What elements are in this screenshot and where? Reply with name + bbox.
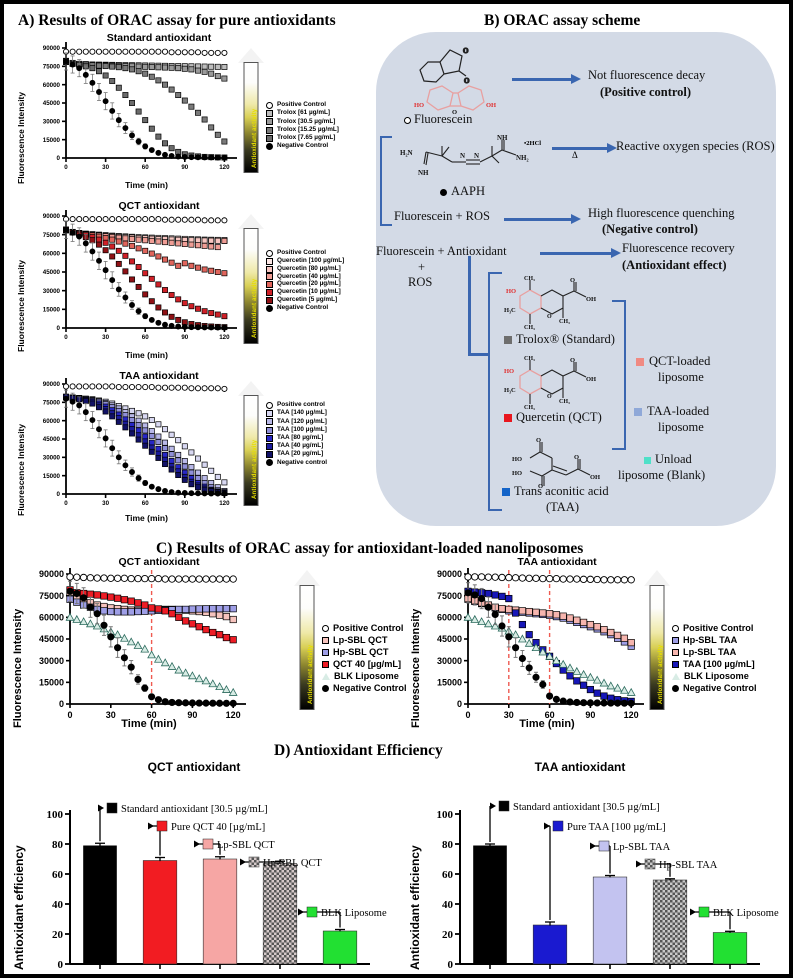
legend-label: Lp-SBL TAA xyxy=(683,648,736,657)
svg-text:30000: 30000 xyxy=(43,119,61,126)
svg-text:0: 0 xyxy=(59,699,64,709)
legend-item: TAA [140 µg/mL] xyxy=(266,410,327,417)
legend-a-standard: Positive ControlTrolox [61 µg/mL]Trolox … xyxy=(266,102,339,151)
aaph-bracket xyxy=(380,136,392,226)
svg-text:O: O xyxy=(536,437,541,444)
legend-label: Negative Control xyxy=(277,143,328,149)
panel-b-content: O O HO OH O Fluorescein Not fluorescence… xyxy=(376,32,776,526)
svg-text:45000: 45000 xyxy=(437,634,462,644)
legend-swatch-icon xyxy=(266,297,273,304)
legend-label: TAA [40 µg/mL] xyxy=(277,443,323,449)
legend-swatch-icon xyxy=(672,637,679,644)
svg-text:60000: 60000 xyxy=(437,613,462,623)
quercetin-structure: HO H₃C CH₃ CH₃ O CH₃ O OH xyxy=(504,354,614,412)
svg-text:0: 0 xyxy=(57,155,61,162)
legend-item: Trolox [30.5 µg/mL] xyxy=(266,118,339,125)
legend-item: Negative Control xyxy=(672,684,757,693)
svg-text:O: O xyxy=(570,277,575,284)
svg-text:HO: HO xyxy=(512,456,522,463)
fluorescein-ros-label: Fluorescein + ROS xyxy=(394,209,490,224)
figure-root: A) Results of ORAC assay for pure antiox… xyxy=(0,0,793,978)
svg-text:30000: 30000 xyxy=(437,656,462,666)
svg-text:120: 120 xyxy=(219,164,230,171)
aaph-label: AAPH xyxy=(451,184,485,198)
legend-item: Negative Control xyxy=(266,143,339,150)
svg-text:O: O xyxy=(547,394,552,400)
svg-text:120: 120 xyxy=(624,710,639,720)
arrow-to-negative-control xyxy=(504,218,572,221)
qct-loaded-row: QCT-loaded xyxy=(636,354,710,369)
section-a-title: A) Results of ORAC assay for pure antiox… xyxy=(18,12,336,30)
antioxidant-activity-arrow-a1: Antioxidant activity xyxy=(238,48,264,173)
svg-text:90: 90 xyxy=(585,710,595,720)
legend-item: TAA [100 µg/mL] xyxy=(266,427,327,434)
svg-text:HO: HO xyxy=(414,102,424,109)
bar-annotation-label: Hp-SBL TAA xyxy=(659,860,718,871)
svg-text:80: 80 xyxy=(442,839,454,851)
svg-text:60: 60 xyxy=(142,164,149,171)
molecules-bracket xyxy=(488,272,502,511)
legend-swatch-icon xyxy=(266,305,273,312)
legend-label: Quercetin [5 µg/mL] xyxy=(277,297,337,303)
trolox-label-row: Trolox® (Standard) xyxy=(504,332,615,347)
legend-swatch-icon xyxy=(266,459,273,466)
legend-item: TAA [120 µg/mL] xyxy=(266,418,327,425)
svg-text:120: 120 xyxy=(226,710,241,720)
svg-text:30: 30 xyxy=(504,710,514,720)
legend-item: Lp-SBL TAA xyxy=(672,648,757,657)
legend-a-taa: Positive controlTAA [140 µg/mL]TAA [120 … xyxy=(266,402,327,468)
fluorescein-antioxidant-plus: + xyxy=(418,260,425,275)
legend-item: TAA [100 µg/mL] xyxy=(672,660,757,669)
svg-text:90000: 90000 xyxy=(43,381,61,388)
legend-label: Positive control xyxy=(277,402,325,408)
legend-label: BLK Liposome xyxy=(334,672,399,681)
legend-item: BLK Liposome xyxy=(322,672,407,681)
legend-swatch-icon xyxy=(672,673,680,680)
legend-item: Negative Control xyxy=(322,684,407,693)
svg-text:20: 20 xyxy=(52,929,64,941)
fluorescein-structure: O O HO OH O xyxy=(414,40,524,112)
svg-text:0: 0 xyxy=(67,710,72,720)
legend-swatch-icon xyxy=(266,143,273,150)
svg-text:0: 0 xyxy=(58,959,64,971)
arrow-to-ros xyxy=(552,147,608,150)
legend-item: Trolox [61 µg/mL] xyxy=(266,110,339,117)
antioxidant-activity-arrow-a2: Antioxidant activity xyxy=(238,214,264,344)
svg-text:NH₂: NH₂ xyxy=(516,154,529,162)
svg-text:CH₃: CH₃ xyxy=(524,325,535,331)
arrow-label: Antioxidant activity xyxy=(308,645,314,704)
arrow-label: Antioxidant activity xyxy=(252,440,258,499)
legend-label: Quercetin [100 µg/mL] xyxy=(277,258,344,264)
legend-label: Positive Control xyxy=(683,624,753,633)
legend-item: Hp-SBL TAA xyxy=(672,636,757,645)
taa-label-row: Trans aconitic acid xyxy=(502,484,609,499)
legend-item: Positive Control xyxy=(266,102,339,109)
quercetin-label-row: Quercetin (QCT) xyxy=(504,410,602,425)
legend-item: TAA [20 µg/mL] xyxy=(266,451,327,458)
svg-text:OH: OH xyxy=(486,102,496,109)
fluorescein-label: Fluorescein xyxy=(414,112,472,126)
svg-text:60: 60 xyxy=(545,710,555,720)
legend-swatch-icon xyxy=(266,435,273,442)
legend-label: TAA [100 µg/mL] xyxy=(277,427,327,433)
legend-label: Hp-SBL TAA xyxy=(683,636,737,645)
legend-label: Trolox [61 µg/mL] xyxy=(277,110,330,116)
svg-text:30000: 30000 xyxy=(39,656,64,666)
fluorescein-antioxidant-label: Fluorescein + Antioxidant xyxy=(376,244,507,259)
svg-text:CH₃: CH₃ xyxy=(524,276,535,282)
output-positive-control: (Positive control) xyxy=(600,85,691,100)
legend-label: Lp-SBL QCT xyxy=(333,636,387,645)
arrow-label: Antioxidant activity xyxy=(252,109,258,168)
legend-label: Trolox [7.65 µg/mL] xyxy=(277,135,335,141)
legend-swatch-icon xyxy=(322,661,329,668)
legend-label: Quercetin [80 µg/mL] xyxy=(277,266,341,272)
svg-text:75000: 75000 xyxy=(437,591,462,601)
svg-text:15000: 15000 xyxy=(43,473,61,480)
svg-text:15000: 15000 xyxy=(43,307,61,314)
svg-text:30: 30 xyxy=(102,334,109,341)
svg-text:90000: 90000 xyxy=(43,213,61,220)
bar-annotation-label: BLK Liposome xyxy=(713,908,779,919)
taa-loaded-row: TAA-loaded xyxy=(634,404,709,419)
legend-label: Quercetin [10 µg/mL] xyxy=(277,289,341,295)
bar-annotation-label: Lp-SBL TAA xyxy=(613,842,671,853)
legend-label: QCT 40 [µg/mL] xyxy=(333,660,401,669)
legend-swatch-icon xyxy=(266,250,273,257)
aaph-marker-icon xyxy=(440,189,447,196)
svg-text:45000: 45000 xyxy=(43,100,61,107)
output-fluorescence-recovery: Fluorescence recovery xyxy=(622,241,735,256)
trolox-marker-icon xyxy=(504,336,512,344)
legend-label: Positive Control xyxy=(333,624,403,633)
legend-item: TAA [40 µg/mL] xyxy=(266,443,327,450)
qct-loaded-label: QCT-loaded xyxy=(649,354,710,368)
taa-label-line1: Trans aconitic acid xyxy=(514,484,609,498)
delta-label: Δ xyxy=(572,150,578,160)
legend-label: Hp-SBL QCT xyxy=(333,648,388,657)
svg-text:60: 60 xyxy=(52,869,64,881)
legend-swatch-icon xyxy=(322,685,329,692)
svg-text:15000: 15000 xyxy=(437,678,462,688)
output-antioxidant-effect: (Antioxidant effect) xyxy=(622,258,727,273)
legend-label: BLK Liposome xyxy=(684,672,749,681)
antioxidant-activity-arrow-a3: Antioxidant activity xyxy=(238,381,264,506)
bar-annotation-label: Lp-SBL QCT xyxy=(217,840,275,851)
legend-swatch-icon xyxy=(322,625,329,632)
svg-text:100: 100 xyxy=(47,809,64,821)
legend-swatch-icon xyxy=(266,402,273,409)
svg-text:O: O xyxy=(547,314,552,320)
svg-text:NH: NH xyxy=(497,134,508,142)
legend-label: Quercetin [40 µg/mL] xyxy=(277,274,341,280)
svg-text:H₃C: H₃C xyxy=(504,307,516,314)
svg-text:30: 30 xyxy=(106,710,116,720)
legend-label: Trolox [30.5 µg/mL] xyxy=(277,119,335,125)
legend-swatch-icon xyxy=(266,451,273,458)
taa-marker-icon xyxy=(502,488,510,496)
fluorescein-marker-icon xyxy=(404,117,411,124)
legend-label: Positive Control xyxy=(277,102,326,108)
svg-text:45000: 45000 xyxy=(43,269,61,276)
hcl-label: •2HCl xyxy=(524,140,541,147)
legend-label: TAA [140 µg/mL] xyxy=(277,410,327,416)
antioxidant-activity-arrow-c1: Antioxidant activity xyxy=(294,570,320,710)
bar-annotation-label: Pure QCT 40 [µg/mL] xyxy=(171,822,265,833)
svg-text:60: 60 xyxy=(142,500,149,507)
svg-text:60000: 60000 xyxy=(43,82,61,89)
taa-label-line2: (TAA) xyxy=(546,500,579,515)
arrow-label: Antioxidant activity xyxy=(252,279,258,338)
svg-text:H₃C: H₃C xyxy=(504,387,516,394)
legend-label: Negative control xyxy=(277,460,327,466)
svg-text:0: 0 xyxy=(457,699,462,709)
output-ros: Reactive oxygen species (ROS) xyxy=(616,139,775,154)
arrow-to-antioxidant-effect xyxy=(540,252,612,255)
svg-text:60: 60 xyxy=(142,334,149,341)
svg-text:120: 120 xyxy=(219,500,230,507)
blank-liposome-label: Unload xyxy=(655,452,692,466)
legend-item: Positive control xyxy=(266,402,327,409)
svg-text:0: 0 xyxy=(57,491,61,498)
legend-swatch-icon xyxy=(266,266,273,273)
svg-text:O: O xyxy=(463,47,469,55)
legend-swatch-icon xyxy=(672,649,679,656)
legend-item: Quercetin [20 µg/mL] xyxy=(266,281,344,288)
svg-text:N: N xyxy=(474,152,479,160)
legend-a-qct: Positive ControlQuercetin [100 µg/mL]Que… xyxy=(266,250,344,312)
qct-loaded-marker-icon xyxy=(636,358,644,366)
chart-c-qct: QCT antioxidant Fluorescence Intensity T… xyxy=(4,556,294,736)
legend-label: Trolox [15.25 µg/mL] xyxy=(277,127,339,133)
svg-text:40: 40 xyxy=(52,899,64,911)
output-negative-control: (Negative control) xyxy=(602,222,698,237)
legend-swatch-icon xyxy=(266,443,273,450)
quercetin-marker-icon xyxy=(504,414,512,422)
svg-text:60: 60 xyxy=(147,710,157,720)
svg-text:90: 90 xyxy=(187,710,197,720)
svg-text:80: 80 xyxy=(52,839,64,851)
svg-text:HO: HO xyxy=(504,368,514,375)
svg-text:90000: 90000 xyxy=(437,569,462,579)
svg-text:30000: 30000 xyxy=(43,288,61,295)
legend-item: Lp-SBL QCT xyxy=(322,636,407,645)
svg-text:0: 0 xyxy=(64,164,68,171)
legend-item: Negative control xyxy=(266,459,327,466)
output-not-fluorescence-decay: Not fluorescence decay xyxy=(588,68,705,83)
qct-loaded-label2: liposome xyxy=(658,370,704,385)
svg-text:N: N xyxy=(460,152,465,160)
legend-item: Quercetin [40 µg/mL] xyxy=(266,273,344,280)
svg-text:75000: 75000 xyxy=(39,591,64,601)
taa-loaded-label2: liposome xyxy=(658,420,704,435)
svg-text:75000: 75000 xyxy=(43,232,61,239)
antioxidant-activity-arrow-c2: Antioxidant activity xyxy=(644,570,670,710)
svg-text:0: 0 xyxy=(448,959,454,971)
legend-swatch-icon xyxy=(266,127,273,134)
legend-swatch-icon xyxy=(266,281,273,288)
legend-swatch-icon xyxy=(672,661,679,668)
svg-text:0: 0 xyxy=(64,334,68,341)
section-d-title: D) Antioxidant Efficiency xyxy=(274,742,443,760)
legend-item: Hp-SBL QCT xyxy=(322,648,407,657)
legend-swatch-icon xyxy=(322,649,329,656)
svg-text:30000: 30000 xyxy=(43,455,61,462)
svg-text:60000: 60000 xyxy=(39,613,64,623)
svg-text:NH: NH xyxy=(418,169,429,177)
connector-horizontal xyxy=(468,353,490,356)
bar-annotation-label: BLK Liposome xyxy=(321,908,387,919)
fluorescein-antioxidant-ros: ROS xyxy=(408,275,432,290)
arrow-to-positive-control xyxy=(512,78,572,81)
svg-text:90000: 90000 xyxy=(39,569,64,579)
blank-liposome-label2: liposome (Blank) xyxy=(618,468,705,483)
svg-text:HO: HO xyxy=(512,470,522,477)
bar-annotation-label: Standard antioxidant [30.5 µg/mL] xyxy=(513,802,660,813)
svg-text:45000: 45000 xyxy=(43,436,61,443)
svg-text:75000: 75000 xyxy=(43,64,61,71)
legend-item: Negative Control xyxy=(266,305,344,312)
svg-text:CH₃: CH₃ xyxy=(559,319,570,325)
taa-loaded-label: TAA-loaded xyxy=(647,404,709,418)
trolox-structure: HO H₃C CH₃ CH₃ O CH₃ O OH xyxy=(504,274,614,332)
legend-label: TAA [20 µg/mL] xyxy=(277,451,323,457)
legend-swatch-icon xyxy=(266,102,273,109)
output-high-quenching: High fluorescence quenching xyxy=(588,206,734,221)
bar-annotation-label: Hp-SBL QCT xyxy=(263,858,322,869)
legend-swatch-icon xyxy=(266,258,273,265)
legend-swatch-icon xyxy=(266,273,273,280)
svg-text:45000: 45000 xyxy=(39,634,64,644)
connector-vertical xyxy=(468,256,471,356)
blank-liposome-marker-icon xyxy=(644,457,651,464)
legend-item: Trolox [7.65 µg/mL] xyxy=(266,135,339,142)
svg-text:O: O xyxy=(574,454,579,461)
legend-item: Quercetin [5 µg/mL] xyxy=(266,297,344,304)
legend-swatch-icon xyxy=(266,135,273,142)
svg-text:CH₃: CH₃ xyxy=(559,399,570,405)
legend-item: Quercetin [100 µg/mL] xyxy=(266,258,344,265)
svg-text:0: 0 xyxy=(465,710,470,720)
legend-item: Positive Control xyxy=(322,624,407,633)
svg-text:30: 30 xyxy=(102,500,109,507)
svg-text:60: 60 xyxy=(442,869,454,881)
svg-text:OH: OH xyxy=(590,474,600,481)
taa-structure: O HO HO O O OH xyxy=(510,432,620,488)
svg-text:90000: 90000 xyxy=(43,45,61,52)
section-b-title: B) ORAC assay scheme xyxy=(484,12,640,30)
svg-text:20: 20 xyxy=(442,929,454,941)
legend-label: Positive Control xyxy=(277,250,326,256)
legend-label: TAA [80 µg/mL] xyxy=(277,435,323,441)
legend-swatch-icon xyxy=(266,418,273,425)
svg-text:H₂N: H₂N xyxy=(400,149,413,157)
svg-text:60000: 60000 xyxy=(43,251,61,258)
legend-item: Positive Control xyxy=(266,250,344,257)
svg-text:0: 0 xyxy=(57,325,61,332)
svg-text:0: 0 xyxy=(64,500,68,507)
legend-item: TAA [80 µg/mL] xyxy=(266,435,327,442)
svg-text:40: 40 xyxy=(442,899,454,911)
arrow-label: Antioxidant activity xyxy=(658,645,664,704)
trolox-label: Trolox® (Standard) xyxy=(516,332,615,346)
legend-swatch-icon xyxy=(672,685,679,692)
legend-swatch-icon xyxy=(322,673,330,680)
legend-c-taa: Positive ControlHp-SBL TAALp-SBL TAATAA … xyxy=(672,624,757,696)
legend-swatch-icon xyxy=(266,410,273,417)
legend-item: QCT 40 [µg/mL] xyxy=(322,660,407,669)
legend-item: Trolox [15.25 µg/mL] xyxy=(266,127,339,134)
legend-label: TAA [120 µg/mL] xyxy=(277,419,327,425)
chart-d-qct: QCT antioxidant Antioxidant efficiency 1… xyxy=(4,760,400,978)
legend-item: Quercetin [10 µg/mL] xyxy=(266,289,344,296)
legend-label: Negative Control xyxy=(683,684,757,693)
svg-text:OH: OH xyxy=(586,376,596,383)
aaph-label-row: AAPH xyxy=(440,184,485,199)
legend-swatch-icon xyxy=(266,289,273,296)
svg-text:90: 90 xyxy=(181,334,188,341)
chart-d-taa: TAA antioxidant Antioxidant efficiency 1… xyxy=(400,760,790,978)
blank-liposome-row: Unload xyxy=(644,452,692,467)
legend-swatch-icon xyxy=(672,625,679,632)
svg-text:15000: 15000 xyxy=(43,137,61,144)
svg-text:HO: HO xyxy=(506,288,516,295)
svg-text:75000: 75000 xyxy=(43,400,61,407)
svg-text:15000: 15000 xyxy=(39,678,64,688)
bar-annotation-label: Standard antioxidant [30.5 µg/mL] xyxy=(121,804,268,815)
legend-label: TAA [100 µg/mL] xyxy=(683,660,755,669)
legend-swatch-icon xyxy=(266,427,273,434)
legend-swatch-icon xyxy=(266,118,273,125)
legend-item: Quercetin [80 µg/mL] xyxy=(266,266,344,273)
taa-loaded-marker-icon xyxy=(634,408,642,416)
quercetin-label: Quercetin (QCT) xyxy=(516,410,602,424)
svg-text:O: O xyxy=(464,77,470,85)
bar-annotation-label: Pure TAA [100 µg/mL] xyxy=(567,822,666,833)
svg-text:30: 30 xyxy=(102,164,109,171)
legend-item: Positive Control xyxy=(672,624,757,633)
svg-text:60000: 60000 xyxy=(43,418,61,425)
fluorescein-label-row: Fluorescein xyxy=(404,112,472,127)
svg-text:OH: OH xyxy=(586,296,596,303)
svg-text:O: O xyxy=(570,357,575,364)
legend-label: Negative Control xyxy=(333,684,407,693)
legend-item: BLK Liposome xyxy=(672,672,757,681)
svg-text:120: 120 xyxy=(219,334,230,341)
svg-text:90: 90 xyxy=(181,500,188,507)
legend-c-qct: Positive ControlLp-SBL QCTHp-SBL QCTQCT … xyxy=(322,624,407,696)
svg-text:90: 90 xyxy=(181,164,188,171)
legend-label: Quercetin [20 µg/mL] xyxy=(277,281,341,287)
svg-text:CH₃: CH₃ xyxy=(524,356,535,362)
liposome-bracket xyxy=(612,300,626,450)
legend-swatch-icon xyxy=(266,110,273,117)
legend-label: Negative Control xyxy=(277,305,328,311)
legend-swatch-icon xyxy=(322,637,329,644)
svg-text:100: 100 xyxy=(437,809,454,821)
